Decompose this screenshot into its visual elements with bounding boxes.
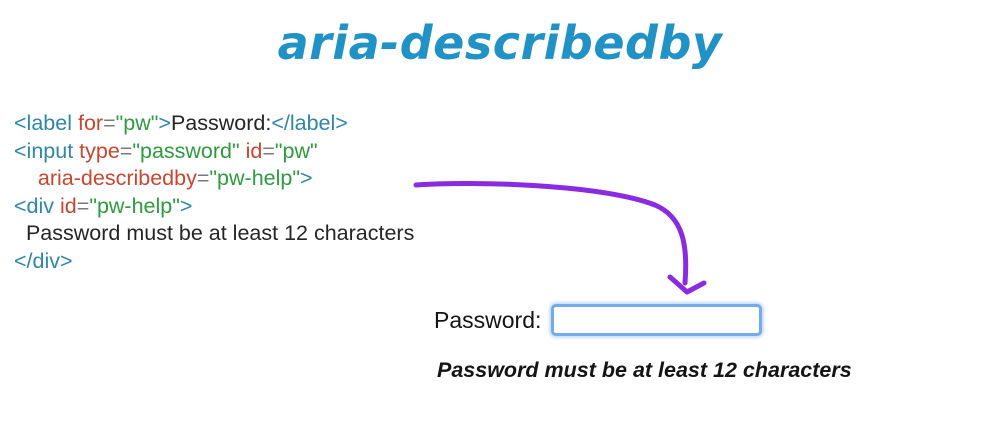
code-token-text: Password: <box>171 111 271 135</box>
code-indent <box>14 221 26 245</box>
code-snippet: <label for="pw">Password:</label><input … <box>14 110 414 275</box>
rendered-example: Password: Password must be at least 12 c… <box>434 300 954 383</box>
code-token-tag: > <box>158 111 171 135</box>
code-line: Password must be at least 12 characters <box>14 220 414 248</box>
code-line: </div> <box>14 248 414 276</box>
code-token-attr: id <box>60 194 77 218</box>
password-label: Password: <box>434 307 541 334</box>
code-token-tag: <div <box>14 194 60 218</box>
password-help-text: Password must be at least 12 characters <box>437 358 954 383</box>
code-token-tag: </div> <box>14 249 73 273</box>
code-token-eq: = <box>262 139 275 163</box>
code-token-val: "pw" <box>116 111 159 135</box>
password-field-row: Password: <box>434 300 954 340</box>
code-line: <div id="pw-help"> <box>14 193 414 221</box>
code-token-eq: = <box>120 139 133 163</box>
code-token-attr: type <box>79 139 120 163</box>
code-line: <label for="pw">Password:</label> <box>14 110 414 138</box>
code-token-eq: = <box>77 194 90 218</box>
describedby-relationship-arrow <box>400 165 710 305</box>
code-token-val: "password" <box>132 139 239 163</box>
code-token-val: "pw-help" <box>209 166 300 190</box>
code-token-tag: > <box>180 194 193 218</box>
code-indent <box>14 166 38 190</box>
code-token-eq: = <box>197 166 210 190</box>
code-token-attr: aria-describedby <box>38 166 197 190</box>
code-token-tag: <label <box>14 111 78 135</box>
page-title: aria-describedby <box>0 16 1000 70</box>
code-token-attr: id <box>246 139 263 163</box>
code-line: aria-describedby="pw-help"> <box>14 165 414 193</box>
code-token-tag: > <box>300 166 313 190</box>
code-token-tag: <input <box>14 139 79 163</box>
code-token-tag: </label> <box>271 111 348 135</box>
code-token-val: "pw-help" <box>89 194 180 218</box>
code-line: <input type="password" id="pw" <box>14 138 414 166</box>
code-token-val: "pw" <box>275 139 318 163</box>
password-input[interactable] <box>551 304 762 336</box>
code-token-eq: = <box>103 111 116 135</box>
code-token-text: Password must be at least 12 characters <box>26 221 414 245</box>
code-token-attr: for <box>78 111 103 135</box>
